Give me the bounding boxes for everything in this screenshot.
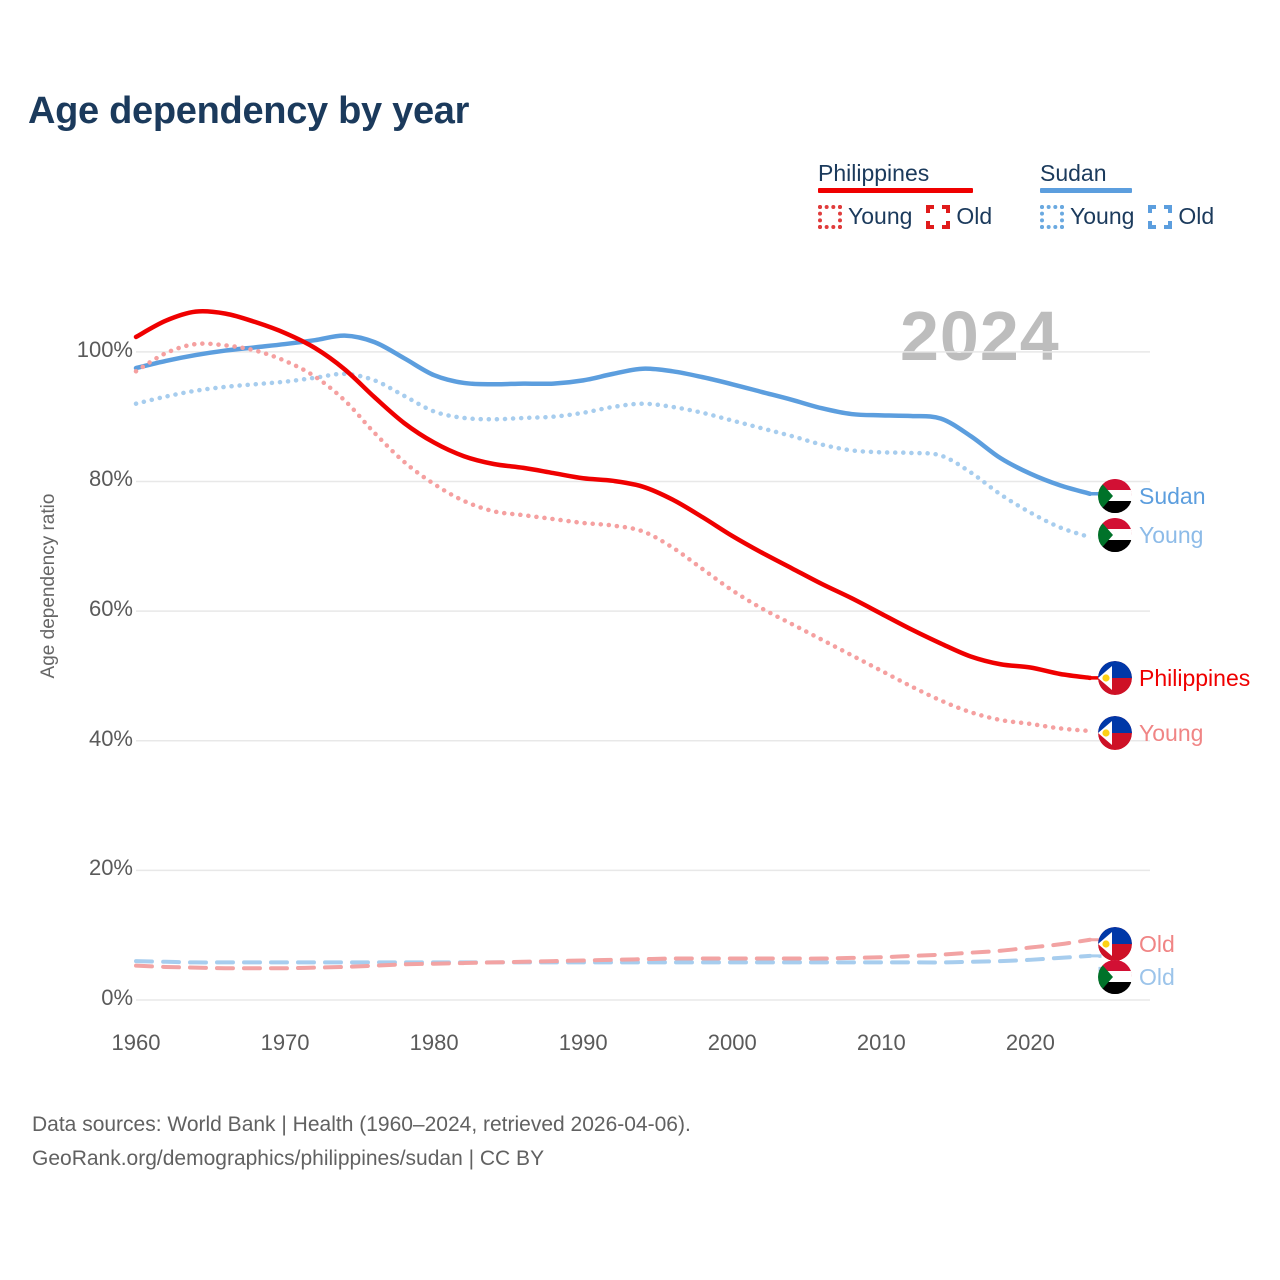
end-label-text: Young: [1139, 720, 1203, 747]
series-end-label: Sudan: [1098, 479, 1206, 513]
series-end-label: Old: [1098, 960, 1175, 994]
plot-area: [0, 0, 1280, 1080]
footer-line-1: Data sources: World Bank | Health (1960–…: [32, 1108, 691, 1142]
sudan-flag-icon: [1098, 479, 1132, 513]
x-tick-label: 1990: [523, 1030, 643, 1056]
footer-line-2: GeoRank.org/demographics/philippines/sud…: [32, 1142, 691, 1176]
y-tick-label: 0%: [13, 985, 133, 1011]
series-line: [136, 344, 1090, 731]
x-tick-label: 1980: [374, 1030, 494, 1056]
x-tick-label: 1960: [76, 1030, 196, 1056]
end-label-text: Old: [1139, 964, 1175, 991]
y-tick-label: 60%: [13, 596, 133, 622]
end-label-text: Sudan: [1139, 483, 1206, 510]
series-end-label: Old: [1098, 927, 1175, 961]
y-axis-label: Age dependency ratio: [38, 471, 60, 701]
x-tick-label: 2010: [821, 1030, 941, 1056]
chart-container: Age dependency by year Philippines Young…: [0, 0, 1280, 1280]
footer-credits: Data sources: World Bank | Health (1960–…: [32, 1108, 691, 1176]
sudan-flag-icon: [1098, 518, 1132, 552]
philippines-flag-icon: [1098, 927, 1132, 961]
philippines-flag-icon: [1098, 661, 1132, 695]
philippines-flag-icon: [1098, 716, 1132, 750]
y-tick-label: 20%: [13, 855, 133, 881]
x-tick-label: 2020: [970, 1030, 1090, 1056]
series-end-label: Young: [1098, 716, 1203, 750]
end-label-text: Young: [1139, 522, 1203, 549]
series-line: [136, 374, 1090, 537]
series-line: [136, 311, 1090, 678]
end-label-text: Old: [1139, 931, 1175, 958]
x-tick-label: 2000: [672, 1030, 792, 1056]
series-end-label: Young: [1098, 518, 1203, 552]
sudan-flag-icon: [1098, 960, 1132, 994]
end-label-text: Philippines: [1139, 665, 1250, 692]
series-end-label: Philippines: [1098, 661, 1250, 695]
y-tick-label: 80%: [13, 466, 133, 492]
series-line: [136, 956, 1090, 963]
y-tick-label: 100%: [13, 337, 133, 363]
y-tick-label: 40%: [13, 726, 133, 752]
x-tick-label: 1970: [225, 1030, 345, 1056]
